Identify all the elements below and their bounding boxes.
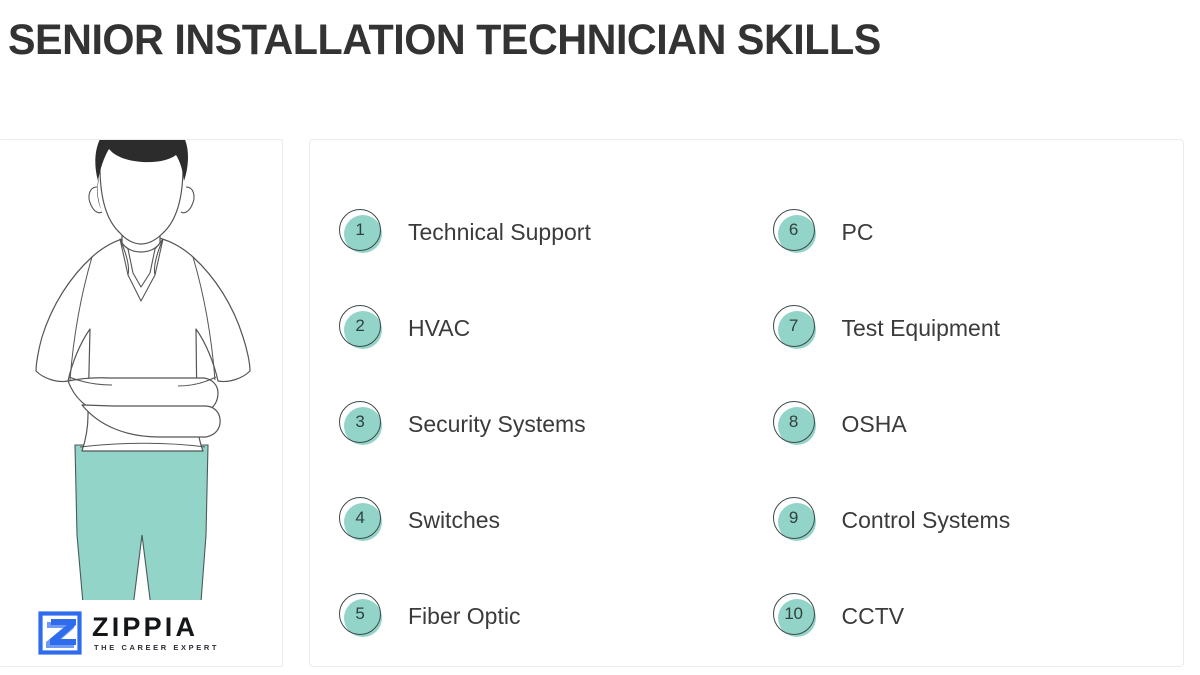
skill-number-badge: 3 [338, 401, 384, 447]
skill-number-badge: 10 [772, 593, 818, 639]
badge-number: 7 [773, 305, 815, 347]
illustration-card: ZIPPIA THE CAREER EXPERT [0, 139, 283, 667]
skills-column-right: 6 PC 7 Test Equipment [747, 140, 1184, 666]
skill-number-badge: 9 [772, 497, 818, 543]
skill-item-10[interactable]: 10 CCTV [772, 568, 1184, 664]
skill-label: Technical Support [408, 218, 591, 246]
skill-number-badge: 4 [338, 497, 384, 543]
skill-label: Fiber Optic [408, 602, 520, 630]
zippia-z-mark-icon [38, 611, 82, 655]
skill-label: Control Systems [842, 506, 1011, 534]
page-title: SENIOR INSTALLATION TECHNICIAN SKILLS [8, 14, 881, 66]
skill-item-5[interactable]: 5 Fiber Optic [338, 568, 747, 664]
badge-number: 4 [339, 497, 381, 539]
skills-panel: 1 Technical Support 2 HVAC [309, 139, 1184, 667]
zippia-wordmark: ZIPPIA [92, 613, 219, 641]
zippia-tagline: THE CAREER EXPERT [94, 642, 219, 653]
badge-number: 2 [339, 305, 381, 347]
skill-item-1[interactable]: 1 Technical Support [338, 184, 747, 280]
skill-item-8[interactable]: 8 OSHA [772, 376, 1184, 472]
skill-label: Test Equipment [842, 314, 1001, 342]
skill-number-badge: 1 [338, 209, 384, 255]
badge-number: 5 [339, 593, 381, 635]
skill-label: OSHA [842, 410, 907, 438]
technician-illustration [0, 139, 283, 615]
skill-label: Security Systems [408, 410, 586, 438]
skill-item-2[interactable]: 2 HVAC [338, 280, 747, 376]
skill-number-badge: 2 [338, 305, 384, 351]
skill-number-badge: 5 [338, 593, 384, 639]
skill-label: HVAC [408, 314, 470, 342]
skill-item-7[interactable]: 7 Test Equipment [772, 280, 1184, 376]
skill-item-9[interactable]: 9 Control Systems [772, 472, 1184, 568]
skill-label: PC [842, 218, 874, 246]
zippia-logo-text: ZIPPIA THE CAREER EXPERT [92, 613, 219, 653]
skill-number-badge: 7 [772, 305, 818, 351]
skill-number-badge: 6 [772, 209, 818, 255]
skills-column-left: 1 Technical Support 2 HVAC [310, 140, 747, 666]
badge-number: 9 [773, 497, 815, 539]
badge-number: 1 [339, 209, 381, 251]
infographic-root: SENIOR INSTALLATION TECHNICIAN SKILLS [0, 0, 1200, 675]
skill-item-6[interactable]: 6 PC [772, 184, 1184, 280]
skill-item-3[interactable]: 3 Security Systems [338, 376, 747, 472]
zippia-logo[interactable]: ZIPPIA THE CAREER EXPERT [0, 600, 283, 666]
skill-item-4[interactable]: 4 Switches [338, 472, 747, 568]
skill-number-badge: 8 [772, 401, 818, 447]
badge-number: 8 [773, 401, 815, 443]
skill-label: CCTV [842, 602, 905, 630]
badge-number: 6 [773, 209, 815, 251]
skills-columns: 1 Technical Support 2 HVAC [310, 140, 1183, 666]
badge-number: 10 [773, 593, 815, 635]
badge-number: 3 [339, 401, 381, 443]
skill-label: Switches [408, 506, 500, 534]
